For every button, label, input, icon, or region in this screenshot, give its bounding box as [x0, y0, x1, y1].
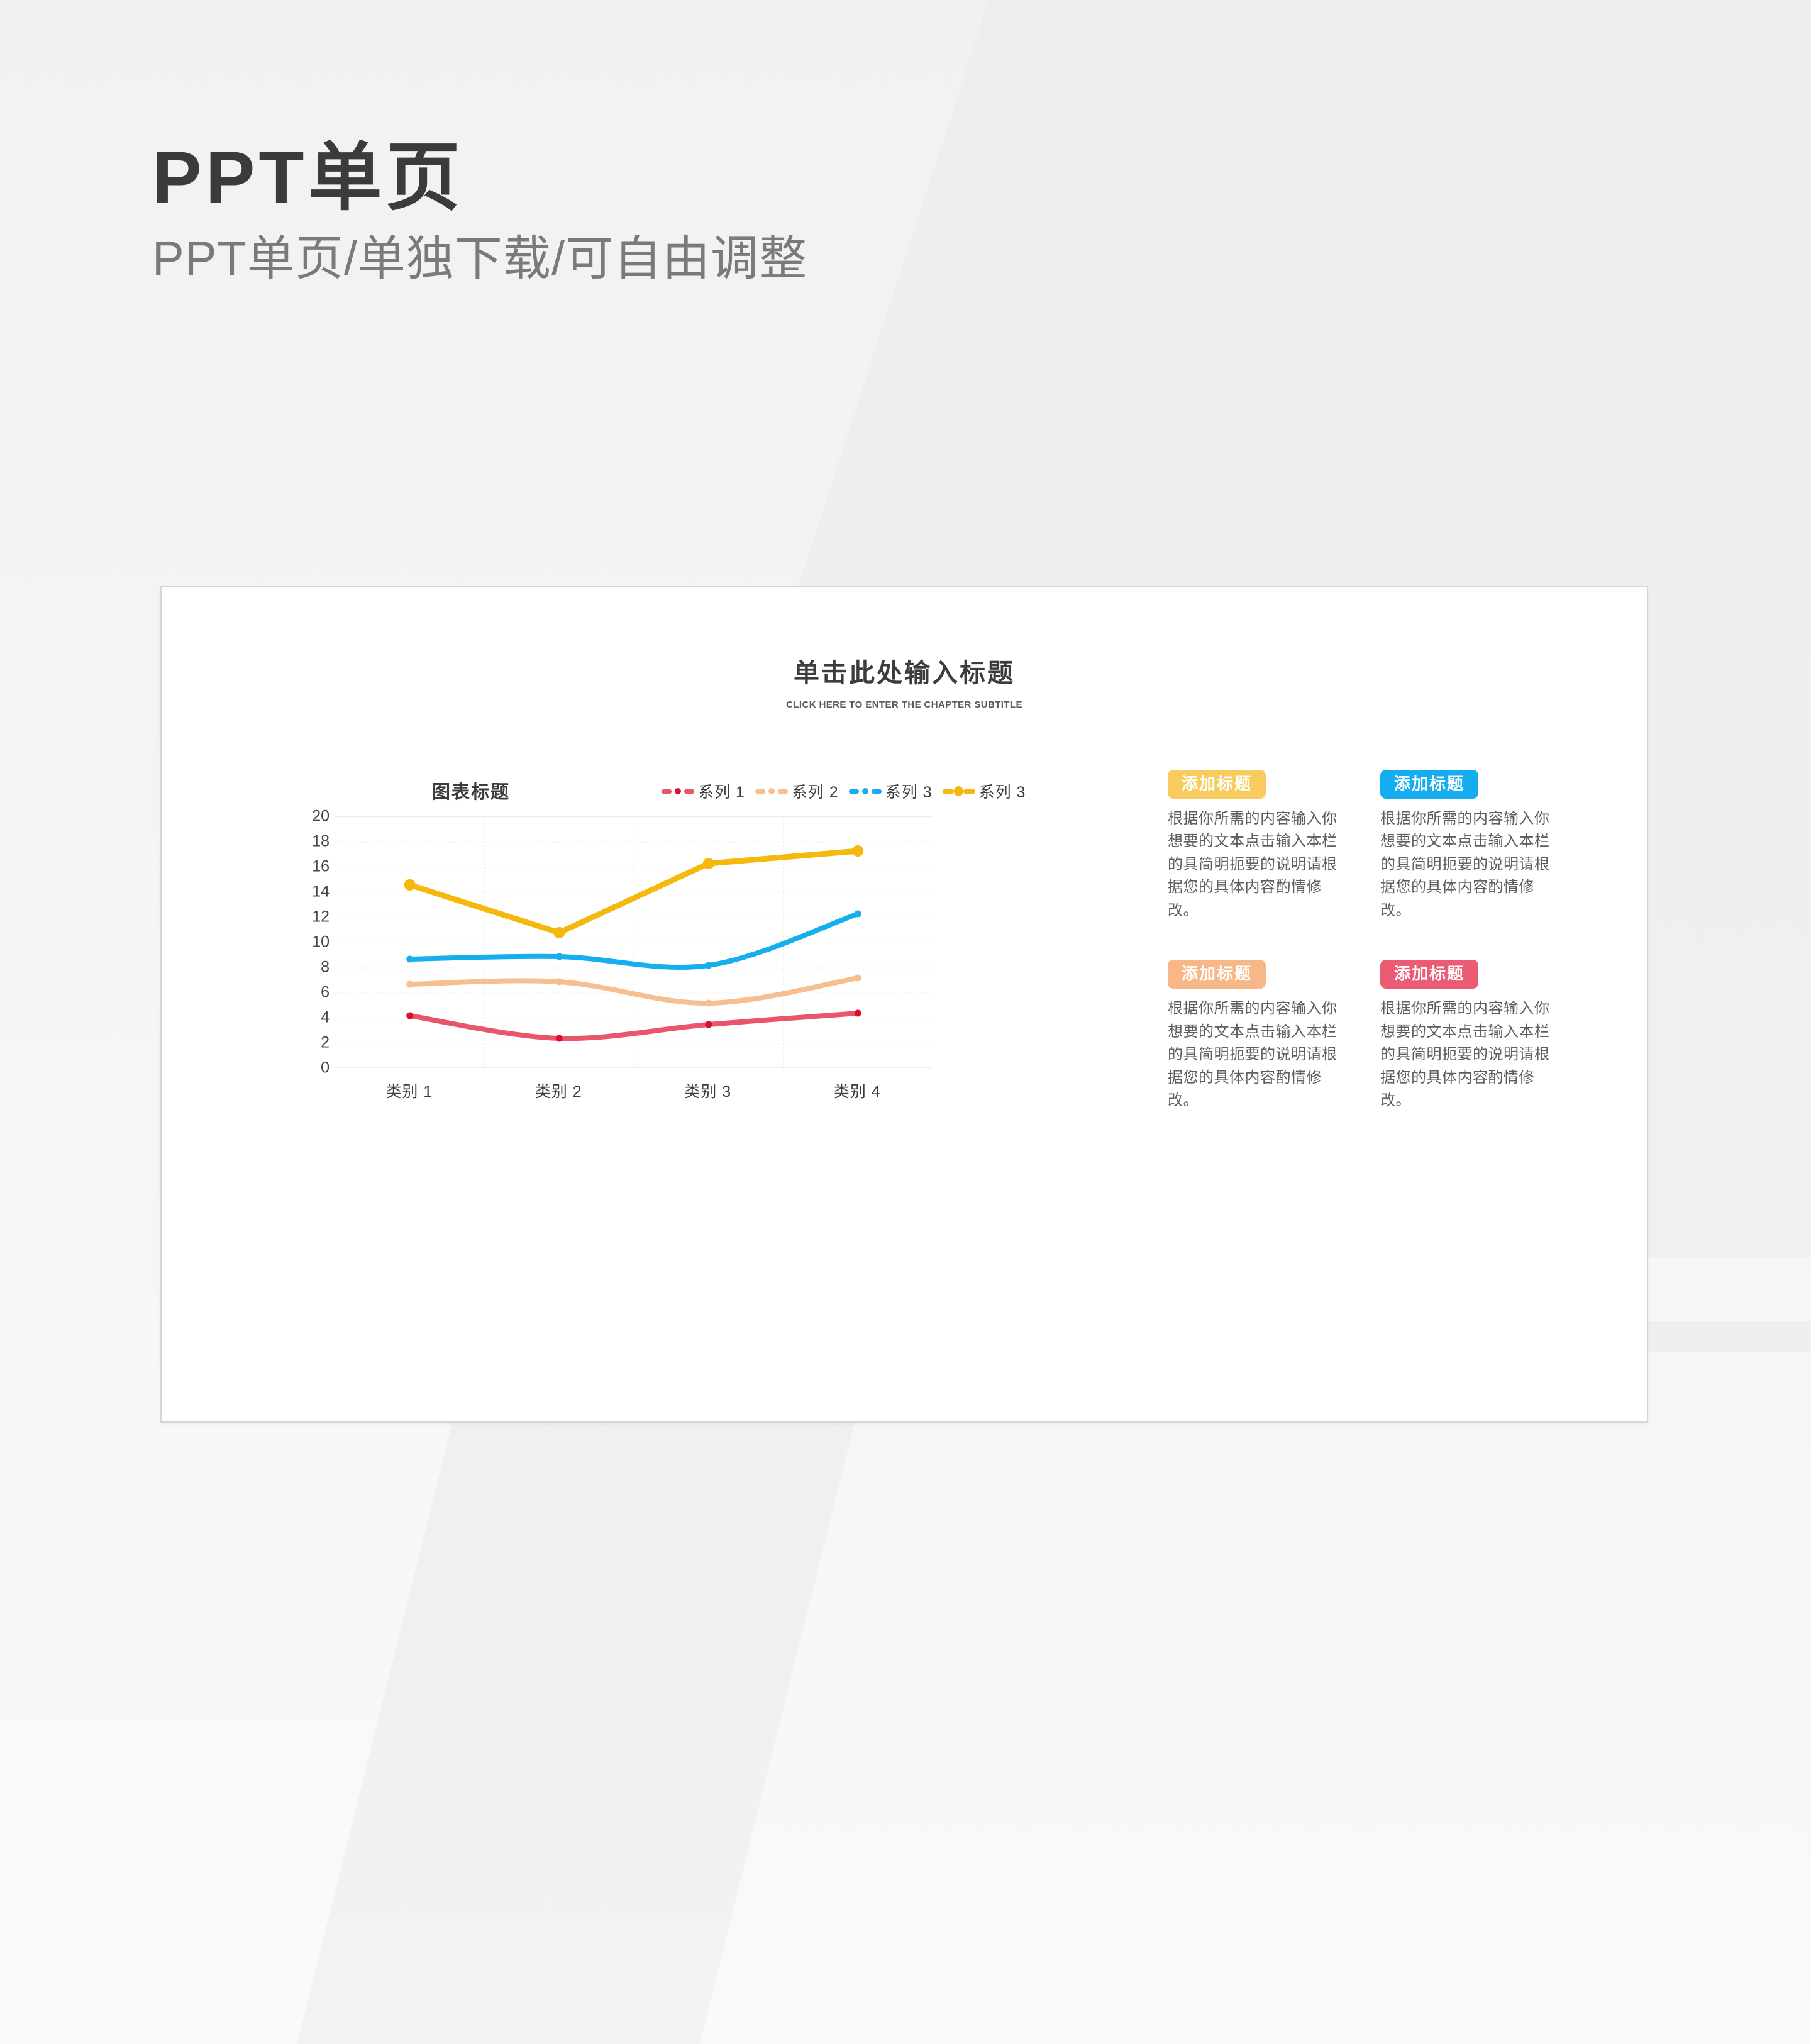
- content-card-1: 添加标题根据你所需的内容输入你想要的文本点击输入本栏的具简明扼要的说明请根据您的…: [1168, 770, 1339, 922]
- card-body-text: 根据你所需的内容输入你想要的文本点击输入本栏的具简明扼要的说明请根据您的具体内容…: [1168, 808, 1339, 922]
- legend-item-4[interactable]: 系列 3: [943, 780, 1026, 803]
- y-tick-label: 10: [312, 935, 330, 950]
- chart-plot-area: 02468101214161820 类别 1类别 2类别 3类别 4: [272, 816, 1152, 1112]
- legend-label: 系列 3: [979, 780, 1026, 803]
- series-point: [556, 953, 563, 960]
- slide-heading-group: 单击此处输入标题 CLICK HERE TO ENTER THE CHAPTER…: [162, 652, 1647, 710]
- page-subtitle: PPT单页/单独下载/可自由调整: [152, 230, 807, 287]
- y-tick-label: 14: [312, 884, 330, 900]
- chart-header: 图表标题 系列 1系列 2系列 3系列 3: [272, 776, 1152, 805]
- legend-marker-icon: [943, 786, 975, 797]
- series-point: [556, 1035, 563, 1042]
- x-tick-label: 类别 3: [633, 1079, 783, 1102]
- background-band-lower: [227, 1321, 1811, 2044]
- card-badge-button[interactable]: 添加标题: [1168, 770, 1266, 799]
- content-card-grid: 添加标题根据你所需的内容输入你想要的文本点击输入本栏的具简明扼要的说明请根据您的…: [1168, 770, 1558, 1113]
- series-point: [406, 1013, 413, 1019]
- y-tick-label: 2: [321, 1035, 330, 1051]
- series-point: [855, 975, 861, 982]
- series-line-4: [410, 851, 858, 933]
- legend-item-1[interactable]: 系列 1: [662, 780, 745, 803]
- card-body-text: 根据你所需的内容输入你想要的文本点击输入本栏的具简明扼要的说明请根据您的具体内容…: [1380, 997, 1551, 1112]
- y-tick-label: 16: [312, 859, 330, 875]
- series-point: [855, 1010, 861, 1017]
- y-tick-label: 20: [312, 809, 330, 825]
- chart-y-axis-labels: 02468101214161820: [272, 816, 330, 1068]
- chart-container: 图表标题 系列 1系列 2系列 3系列 3 02468101214161820 …: [272, 776, 1152, 1112]
- series-point: [406, 956, 413, 963]
- legend-label: 系列 3: [885, 780, 933, 803]
- card-badge-button[interactable]: 添加标题: [1380, 770, 1478, 799]
- chart-title: 图表标题: [432, 777, 510, 804]
- content-card-2: 添加标题根据你所需的内容输入你想要的文本点击输入本栏的具简明扼要的说明请根据您的…: [1380, 770, 1551, 922]
- series-point: [705, 1021, 712, 1028]
- card-badge-button[interactable]: 添加标题: [1168, 960, 1266, 989]
- slide-subtitle: CLICK HERE TO ENTER THE CHAPTER SUBTITLE: [162, 699, 1647, 710]
- y-tick-label: 8: [321, 960, 330, 975]
- y-tick-label: 4: [321, 1010, 330, 1026]
- series-point: [705, 1000, 712, 1007]
- series-point: [852, 845, 863, 857]
- series-point: [556, 979, 563, 986]
- chart-legend: 系列 1系列 2系列 3系列 3: [662, 780, 1026, 803]
- card-body-text: 根据你所需的内容输入你想要的文本点击输入本栏的具简明扼要的说明请根据您的具体内容…: [1168, 997, 1339, 1112]
- y-tick-label: 0: [321, 1060, 330, 1076]
- y-tick-label: 12: [312, 909, 330, 925]
- series-point: [406, 981, 413, 988]
- legend-item-2[interactable]: 系列 2: [755, 780, 839, 803]
- chart-plot: [335, 816, 932, 1068]
- card-body-text: 根据你所需的内容输入你想要的文本点击输入本栏的具简明扼要的说明请根据您的具体内容…: [1380, 808, 1551, 922]
- page-root: PPT单页 PPT单页/单独下载/可自由调整 单击此处输入标题 CLICK HE…: [0, 0, 1811, 2044]
- card-badge-button[interactable]: 添加标题: [1380, 960, 1478, 989]
- legend-label: 系列 1: [698, 780, 745, 803]
- legend-marker-icon: [662, 786, 694, 797]
- page-header: PPT单页 PPT单页/单独下载/可自由调整: [152, 136, 807, 287]
- series-line-1: [410, 1013, 858, 1038]
- series-point: [855, 911, 861, 918]
- legend-marker-icon: [849, 786, 882, 797]
- x-tick-label: 类别 4: [783, 1079, 933, 1102]
- background-band-lower-light: [637, 1352, 1811, 2044]
- legend-label: 系列 2: [792, 780, 839, 803]
- slide-title: 单击此处输入标题: [162, 652, 1647, 689]
- page-title: PPT单页: [152, 136, 807, 221]
- slide-card: 单击此处输入标题 CLICK HERE TO ENTER THE CHAPTER…: [160, 586, 1648, 1423]
- series-point: [703, 858, 714, 869]
- series-point: [404, 879, 416, 891]
- chart-svg: [335, 817, 933, 1069]
- y-tick-label: 18: [312, 834, 330, 850]
- content-card-4: 添加标题根据你所需的内容输入你想要的文本点击输入本栏的具简明扼要的说明请根据您的…: [1380, 960, 1551, 1112]
- y-tick-label: 6: [321, 985, 330, 1001]
- chart-x-axis-labels: 类别 1类别 2类别 3类别 4: [335, 1079, 932, 1102]
- legend-marker-icon: [755, 786, 788, 797]
- x-tick-label: 类别 2: [484, 1079, 634, 1102]
- x-tick-label: 类别 1: [335, 1079, 484, 1102]
- series-point: [553, 927, 565, 938]
- series-point: [705, 962, 712, 969]
- content-card-3: 添加标题根据你所需的内容输入你想要的文本点击输入本栏的具简明扼要的说明请根据您的…: [1168, 960, 1339, 1112]
- legend-item-3[interactable]: 系列 3: [849, 780, 933, 803]
